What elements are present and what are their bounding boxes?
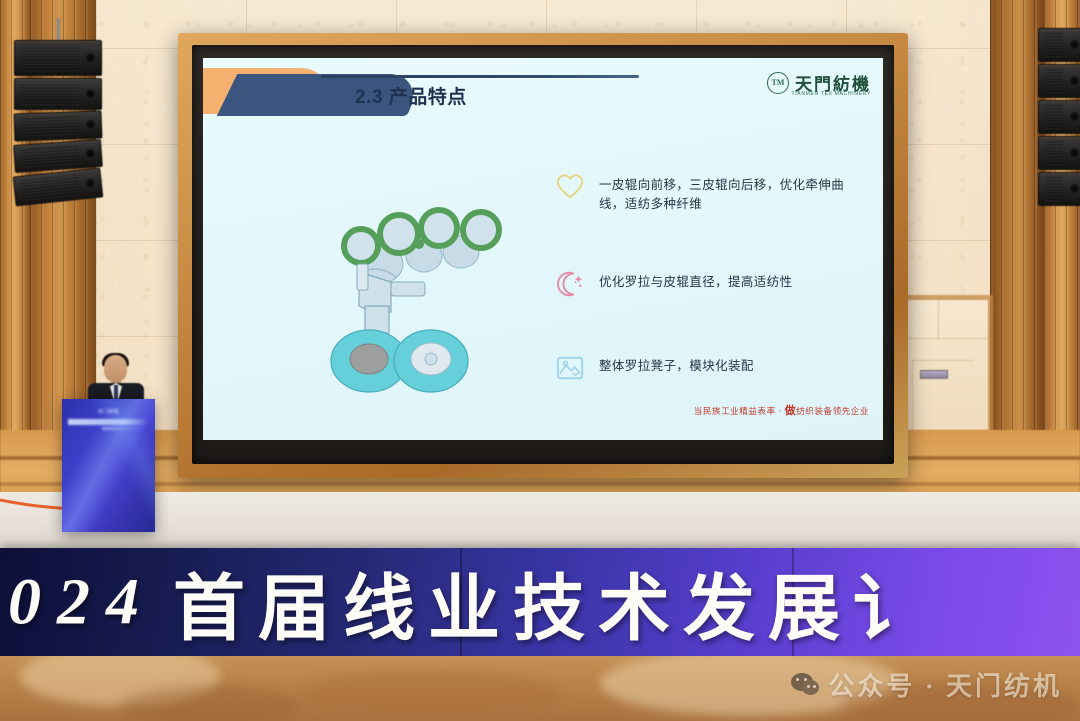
slide-title: 2.3 产品特点 [355, 82, 467, 109]
podium-subtitle-text [102, 427, 145, 430]
slide-bullet-list: 一皮辊向前移，三皮辊向后移，优化牵伸曲线，适纺多种纤维 [555, 176, 845, 383]
wechat-icon [791, 673, 819, 697]
machine-diagram [321, 186, 531, 396]
line-array-speaker-right [1038, 28, 1080, 208]
watermark: 公众号 · 天门纺机 [791, 666, 1062, 703]
logo-mark-icon: TM [767, 72, 789, 94]
line-array-speaker-left [14, 40, 100, 204]
slogan-prefix: 当民族工业精益表率 · [694, 406, 782, 416]
stage-floor [0, 492, 1080, 556]
title-underline [321, 75, 639, 78]
moon-star-icon [555, 269, 585, 299]
event-banner-text: 024 首届线业技术发展讠 [8, 550, 1080, 655]
image-icon [555, 353, 585, 383]
led-screen-frame: 2.3 产品特点 TM 天門紡機 TIANMEN TEX MACHINERY [178, 33, 908, 478]
presenter-head [104, 355, 127, 382]
banner-title: 首届线业技术发展讠 [173, 550, 938, 655]
slide-slogan: 当民族工业精益表率 · 做纺织装备领先企业 [203, 402, 869, 418]
event-banner: 024 首届线业技术发展讠 [0, 548, 1080, 656]
slogan-suffix: 纺织装备领先企业 [796, 406, 869, 416]
wall-plaque [920, 370, 948, 379]
list-item: 整体罗拉凳子，模块化装配 [555, 357, 845, 383]
conference-photo: 2.3 产品特点 TM 天門紡機 TIANMEN TEX MACHINERY [0, 0, 1080, 721]
podium-logo: 天门纺机 [98, 408, 119, 415]
watermark-text: 公众号 · 天门纺机 [828, 666, 1062, 703]
podium: 天门纺机 [62, 399, 155, 532]
led-screen-bezel: 2.3 产品特点 TM 天門紡機 TIANMEN TEX MACHINERY [192, 45, 894, 464]
list-item: 一皮辊向前移，三皮辊向后移，优化牵伸曲线，适纺多种纤维 [555, 176, 845, 215]
heart-icon [555, 172, 585, 202]
presentation-slide: 2.3 产品特点 TM 天門紡機 TIANMEN TEX MACHINERY [203, 58, 883, 440]
list-item-label: 优化罗拉与皮辊直径，提高适纺性 [599, 273, 793, 292]
list-item: 优化罗拉与皮辊直径，提高适纺性 [555, 273, 845, 299]
logo-name-en: TIANMEN TEX MACHINERY [791, 91, 871, 97]
slogan-accent: 做 [785, 405, 797, 417]
led-screen: 2.3 产品特点 TM 天門紡機 TIANMEN TEX MACHINERY [203, 58, 883, 440]
banner-year: 024 [8, 564, 155, 640]
podium-title-text [68, 419, 149, 425]
list-item-label: 整体罗拉凳子，模块化装配 [599, 357, 754, 376]
list-item-label: 一皮辊向前移，三皮辊向后移，优化牵伸曲线，适纺多种纤维 [599, 176, 845, 215]
presenter-tie [114, 385, 118, 399]
